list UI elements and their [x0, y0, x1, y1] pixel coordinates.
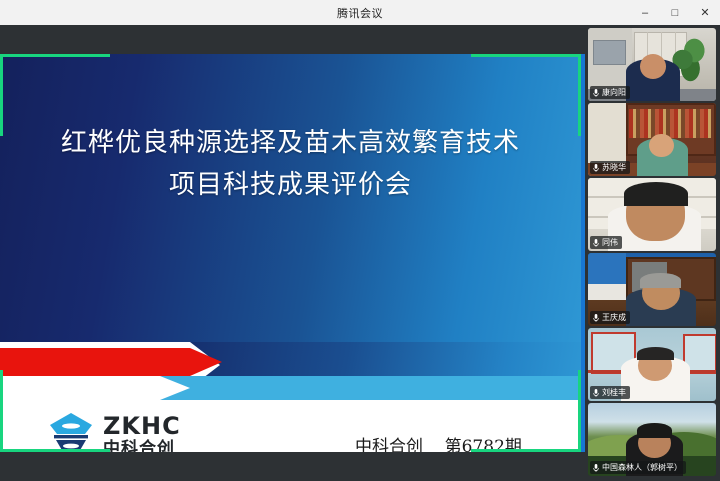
participant-tile[interactable]: 刘桂丰 [588, 328, 716, 401]
window-controls: – □ ✕ [630, 0, 720, 25]
participant-tile[interactable]: 王庆成 [588, 253, 716, 326]
logo-text-en: ZKHC [103, 414, 181, 438]
zkhc-logo: ZKHC 中科合创 [48, 412, 181, 452]
slide-footer-text: 中科合创 第6782期 [355, 432, 522, 452]
participant-name: 苏晓华 [602, 162, 626, 173]
mic-muted-icon [592, 88, 600, 98]
participant-tile[interactable]: 康向阳 [588, 28, 716, 101]
meeting-window-body: 红桦优良种源选择及苗木高效繁育技术 项目科技成果评价会 ZKH [0, 25, 720, 481]
logo-text-cn: 中科合创 [103, 441, 181, 452]
slide-title: 红桦优良种源选择及苗木高效繁育技术 项目科技成果评价会 [0, 122, 581, 206]
window-title-bar: 腾讯会议 – □ ✕ [0, 0, 720, 26]
participant-name-tag: 中国森林人（郭树平） [590, 461, 686, 474]
slide-red-arrow-shape [0, 348, 222, 376]
mic-muted-icon [592, 238, 600, 248]
mic-muted-icon [592, 313, 600, 323]
participant-name: 康向阳 [602, 87, 626, 98]
participant-name: 刘桂丰 [602, 387, 626, 398]
mic-muted-icon [592, 388, 600, 398]
maximize-button[interactable]: □ [660, 0, 690, 25]
shared-screen-region[interactable]: 红桦优良种源选择及苗木高效繁育技术 项目科技成果评价会 ZKH [0, 54, 581, 452]
window-title: 腾讯会议 [337, 5, 383, 21]
mic-muted-icon [592, 163, 600, 173]
participant-name: 王庆成 [602, 312, 626, 323]
participant-filmstrip[interactable]: 康向阳 苏晓华 [585, 25, 720, 481]
participant-name: 中国森林人（郭树平） [602, 462, 682, 473]
participant-name-tag: 苏晓华 [590, 161, 630, 174]
slide-title-line-1: 红桦优良种源选择及苗木高效繁育技术 [61, 128, 520, 158]
participant-tile[interactable]: 中国森林人（郭树平） [588, 403, 716, 476]
participant-name-tag: 刘桂丰 [590, 386, 630, 399]
presentation-slide: 红桦优良种源选择及苗木高效繁育技术 项目科技成果评价会 ZKH [0, 54, 581, 452]
mic-muted-icon [592, 463, 600, 473]
participant-name-tag: 同伟 [590, 236, 622, 249]
participant-name-tag: 康向阳 [590, 86, 630, 99]
participant-tile[interactable]: 同伟 [588, 178, 716, 251]
participant-tile[interactable]: 苏晓华 [588, 103, 716, 176]
participant-name: 同伟 [602, 237, 618, 248]
zkhc-logo-mark-icon [48, 412, 94, 452]
minimize-button[interactable]: – [630, 0, 660, 25]
close-button[interactable]: ✕ [690, 0, 720, 25]
zkhc-logo-text: ZKHC 中科合创 [103, 414, 181, 452]
participant-name-tag: 王庆成 [590, 311, 630, 324]
slide-blue-arrow-shape [0, 376, 581, 400]
slide-title-line-2: 项目科技成果评价会 [0, 164, 581, 206]
